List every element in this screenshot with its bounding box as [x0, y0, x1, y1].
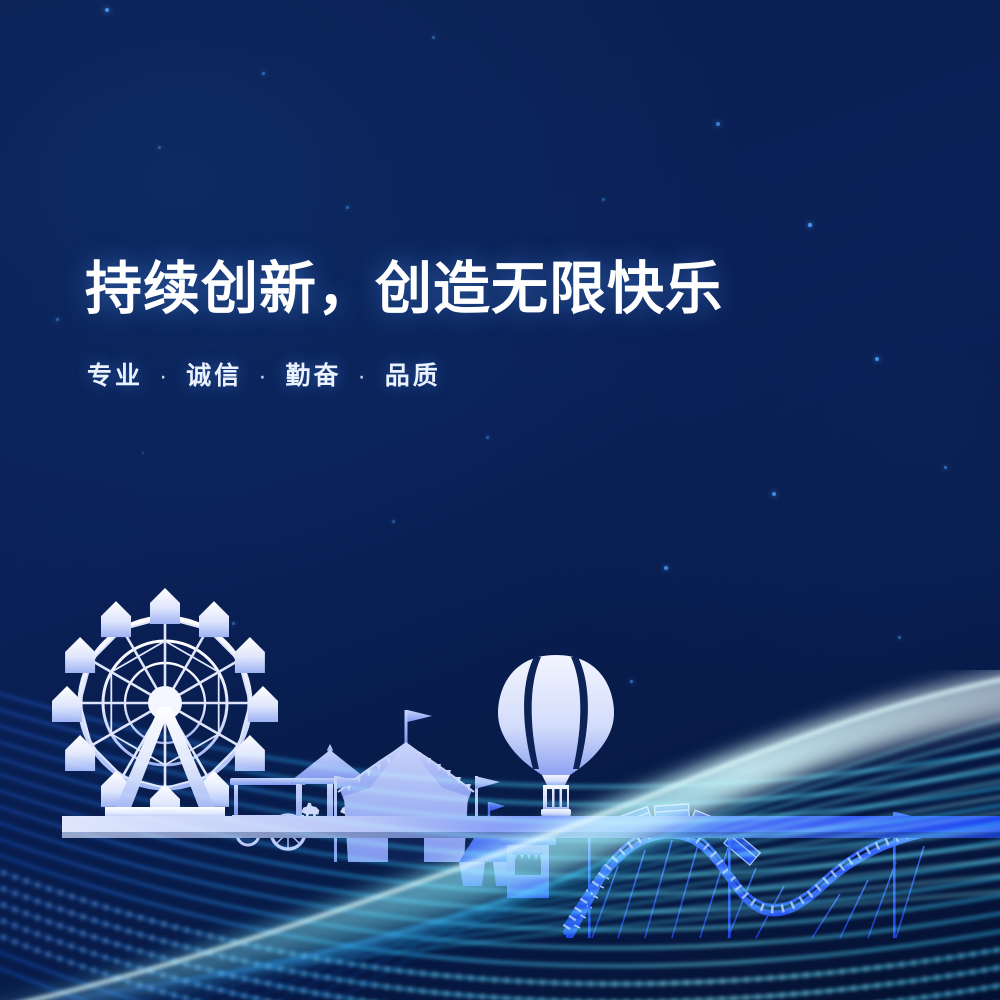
subtitle-separator-2: ·	[258, 362, 269, 390]
subtitle-item-2: 诚信	[186, 362, 242, 390]
star-dot	[772, 492, 776, 496]
star-dot	[105, 8, 109, 12]
subtitle-item-3: 勤奋	[286, 362, 342, 390]
banner-copy: 持续创新，创造无限快乐 专业 · 诚信 · 勤奋 · 品质	[85, 258, 925, 392]
star-dot	[602, 198, 605, 201]
glow-wave-mesh	[0, 670, 1000, 1000]
headline: 持续创新，创造无限快乐	[85, 258, 925, 322]
subtitle-item-1: 专业	[87, 362, 143, 390]
star-dot	[716, 122, 720, 126]
star-dot	[56, 318, 59, 321]
subtitle: 专业 · 诚信 · 勤奋 · 品质	[87, 356, 925, 392]
subtitle-separator-1: ·	[159, 362, 170, 390]
star-dot	[808, 223, 812, 227]
star-dot	[346, 206, 349, 209]
subtitle-item-4: 品质	[385, 362, 441, 390]
promo-banner: 持续创新，创造无限快乐 专业 · 诚信 · 勤奋 · 品质	[0, 0, 1000, 1000]
star-dot	[262, 72, 265, 75]
star-dot	[432, 36, 435, 39]
star-dot	[664, 566, 668, 570]
star-dot	[944, 466, 947, 469]
subtitle-separator-3: ·	[357, 362, 368, 390]
star-dot	[486, 436, 489, 439]
star-dot	[158, 146, 161, 149]
star-dot	[142, 452, 144, 454]
star-dot	[392, 520, 395, 523]
